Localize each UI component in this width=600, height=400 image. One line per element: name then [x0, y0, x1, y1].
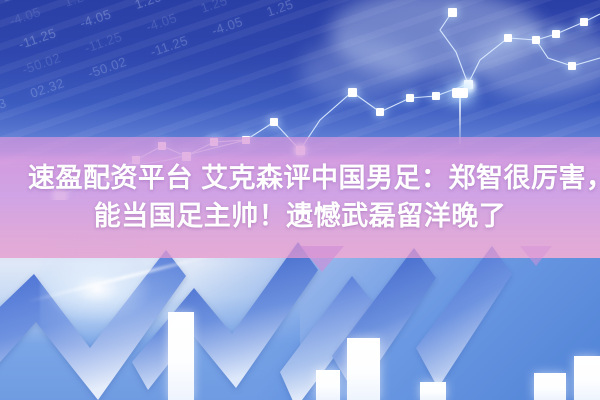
- headline-line-1: 速盈配资平台 艾克森评中国男足：郑智很厉害，: [0, 163, 600, 195]
- headline-text: 速盈配资平台 艾克森评中国男足：郑智很厉害， 能当国足主帅！遗憾武磊留洋晚了: [0, 137, 600, 258]
- bar-column: [316, 370, 340, 400]
- bar-column: [574, 356, 600, 400]
- headline-line-2: 能当国足主帅！遗憾武磊留洋晚了: [94, 201, 507, 233]
- bar-column: [347, 338, 380, 400]
- bar-column: [420, 382, 446, 400]
- lamp-glow: [452, 88, 468, 98]
- bar-column: [534, 373, 566, 400]
- news-banner-image: -50.02-02.36+5.02-11.25-02.3621.3545.021…: [0, 0, 600, 400]
